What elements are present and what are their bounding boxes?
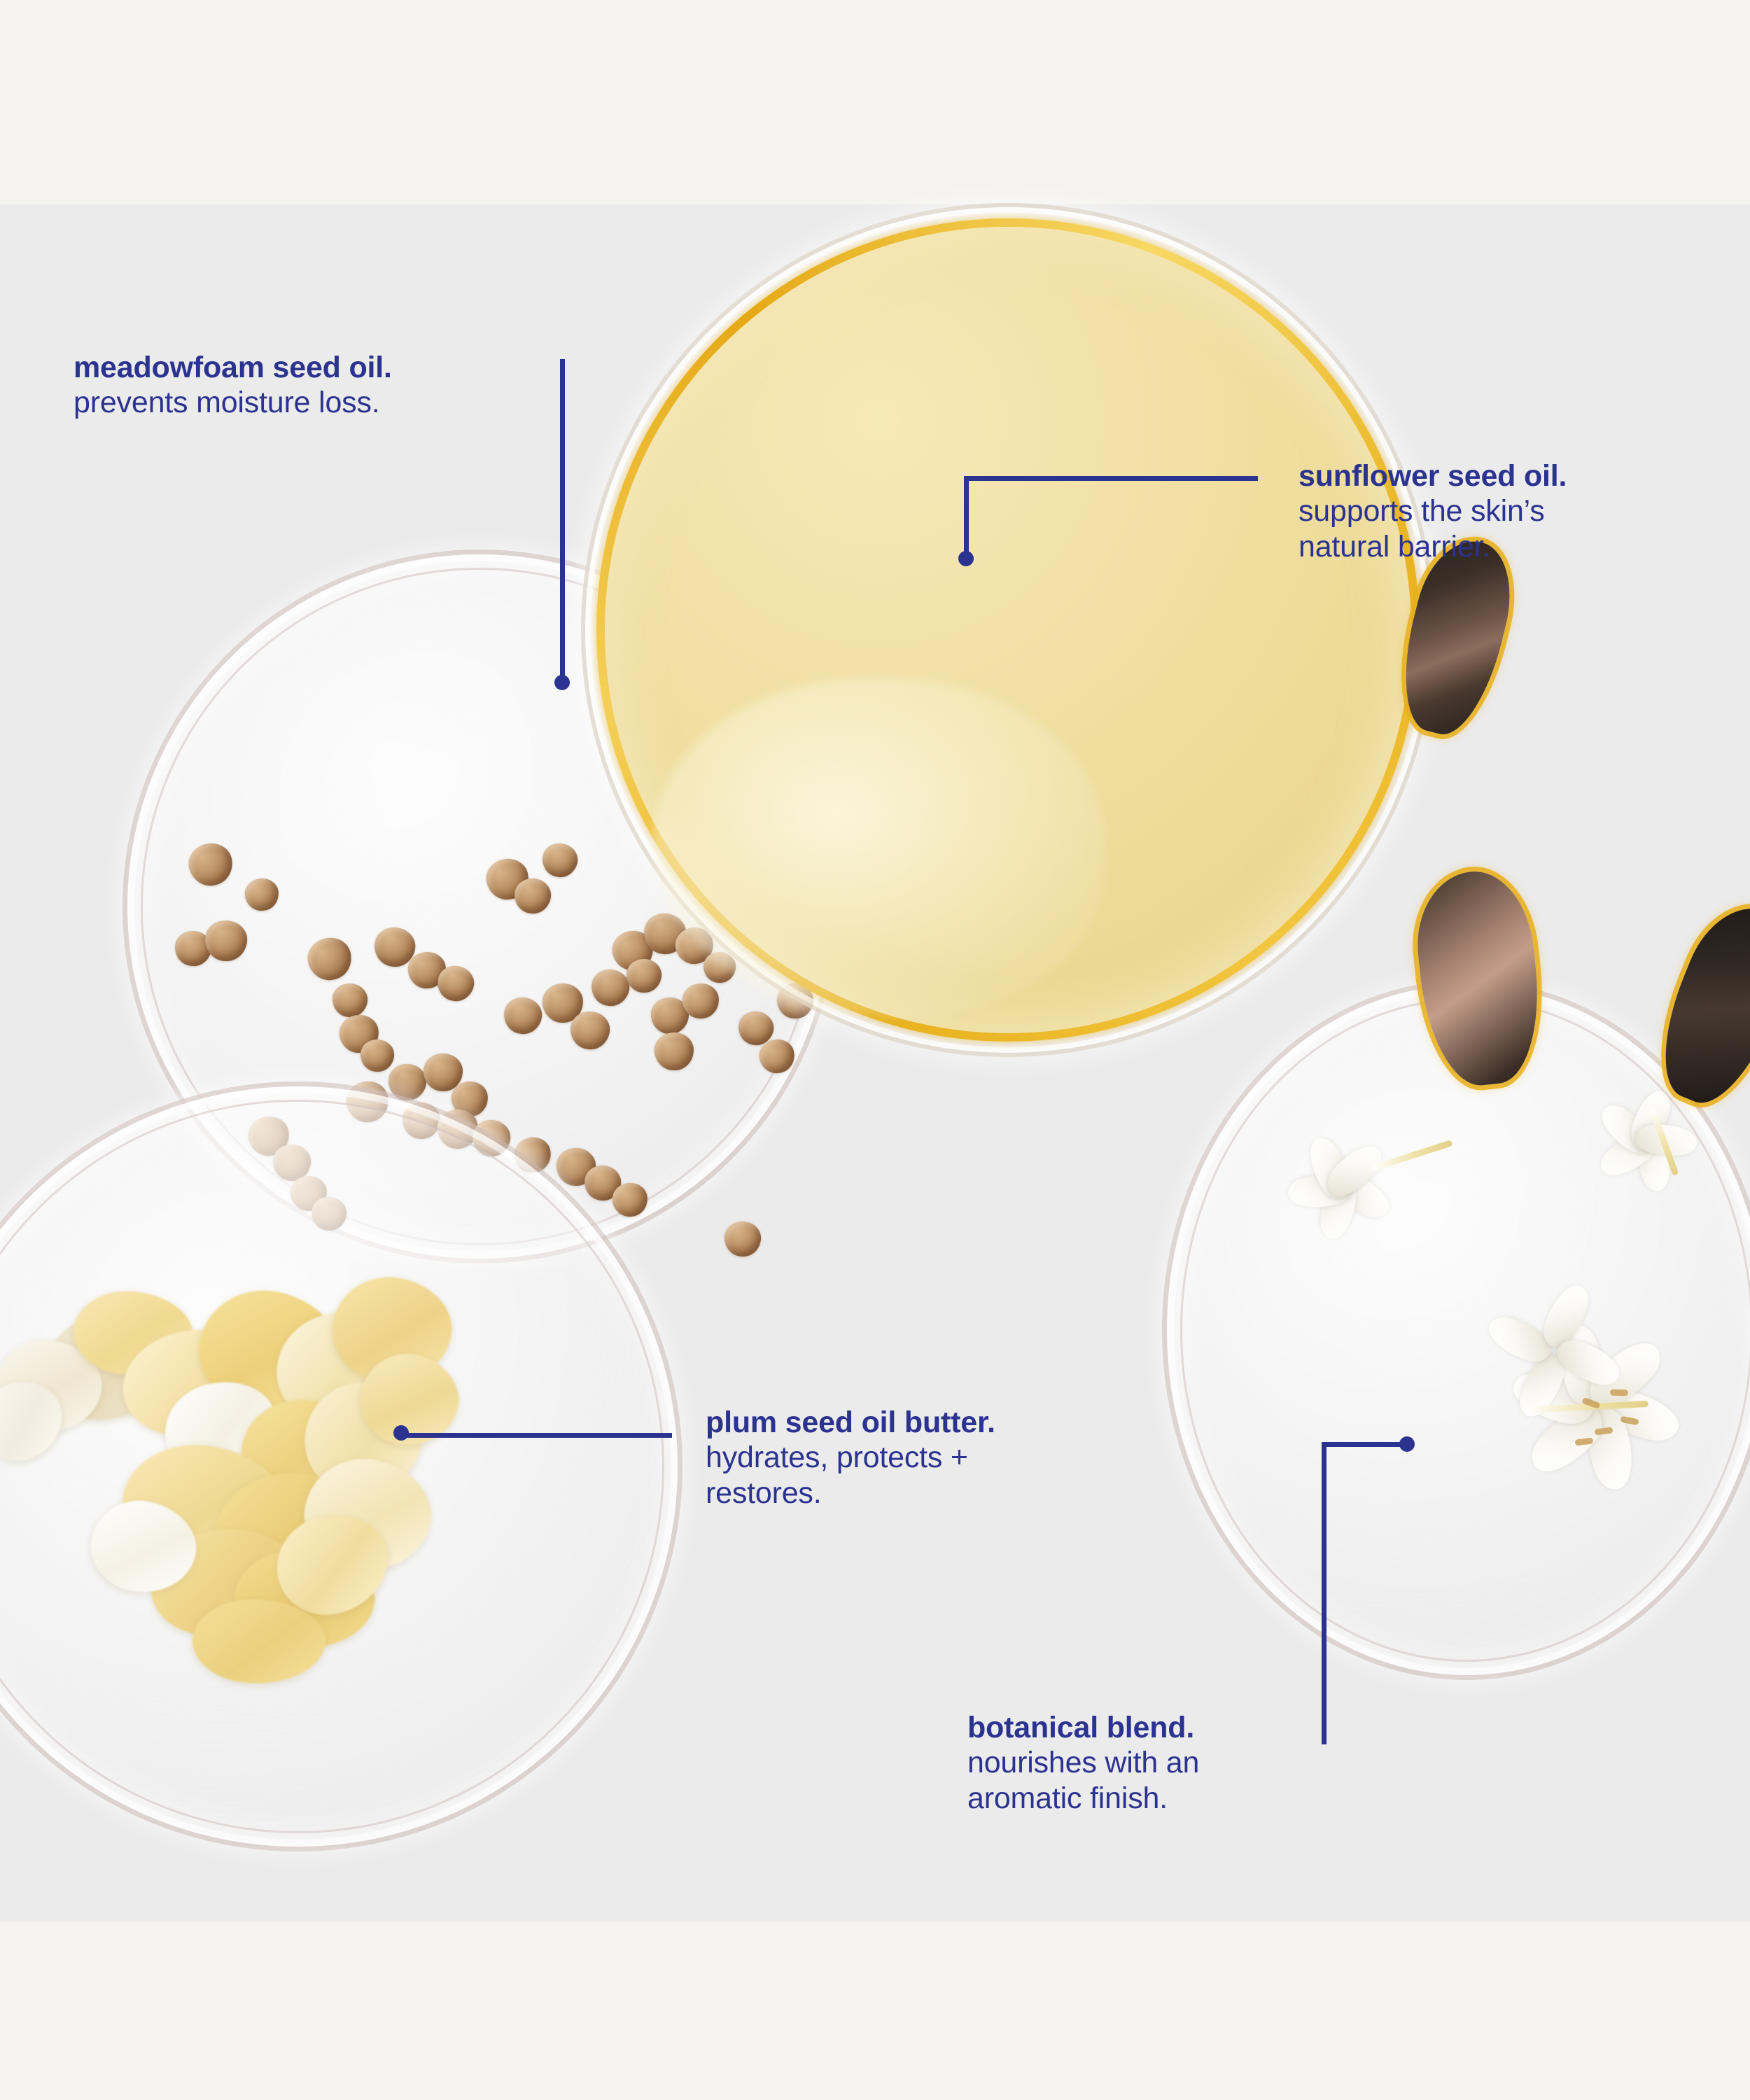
callout-title: plum seed oil butter. xyxy=(706,1405,995,1440)
sunflower-seed-oil-dish xyxy=(581,203,1435,1057)
callout-subtitle-2: restores. xyxy=(706,1476,995,1511)
leader-dot-botanical xyxy=(1399,1436,1415,1452)
callout-subtitle-1: supports the skin’s xyxy=(1298,493,1567,528)
callout-sunflower: sunflower seed oil. supports the skin’s … xyxy=(1298,458,1567,564)
callout-subtitle-1: nourishes with an xyxy=(967,1745,1199,1780)
flower-anther xyxy=(1610,1389,1628,1396)
callout-subtitle-2: aromatic finish. xyxy=(967,1781,1199,1816)
leader-line-sunflower-vertical xyxy=(964,476,969,561)
background-band-bottom xyxy=(0,1921,1750,2100)
sunflower-oil-pool xyxy=(605,227,1411,1033)
ingredient-callout-graphic: meadowfoam seed oil. prevents moisture l… xyxy=(0,0,1750,2100)
callout-botanical: botanical blend. nourishes with an aroma… xyxy=(967,1710,1199,1816)
leader-line-sunflower-horizontal xyxy=(964,476,1258,481)
botanical-blend-dish xyxy=(1162,980,1750,1680)
callout-subtitle-2: natural barrier. xyxy=(1298,529,1567,564)
callout-title: meadowfoam seed oil. xyxy=(73,350,392,385)
leader-line-plum xyxy=(399,1433,672,1438)
callout-subtitle-1: hydrates, protects + xyxy=(706,1440,995,1475)
leader-dot-sunflower xyxy=(958,551,974,566)
leader-dot-meadowfoam xyxy=(554,675,570,690)
leader-dot-plum xyxy=(393,1425,409,1441)
callout-subtitle: prevents moisture loss. xyxy=(73,385,392,420)
callout-plum: plum seed oil butter. hydrates, protects… xyxy=(706,1405,995,1511)
callout-title: botanical blend. xyxy=(967,1710,1199,1745)
callout-title: sunflower seed oil. xyxy=(1298,458,1567,493)
background-band-top xyxy=(0,0,1750,204)
callout-meadowfoam: meadowfoam seed oil. prevents moisture l… xyxy=(73,350,392,421)
leader-line-botanical-vertical xyxy=(1322,1442,1326,1744)
leader-line-meadowfoam xyxy=(560,359,565,685)
leader-line-botanical-horizontal xyxy=(1322,1442,1407,1447)
